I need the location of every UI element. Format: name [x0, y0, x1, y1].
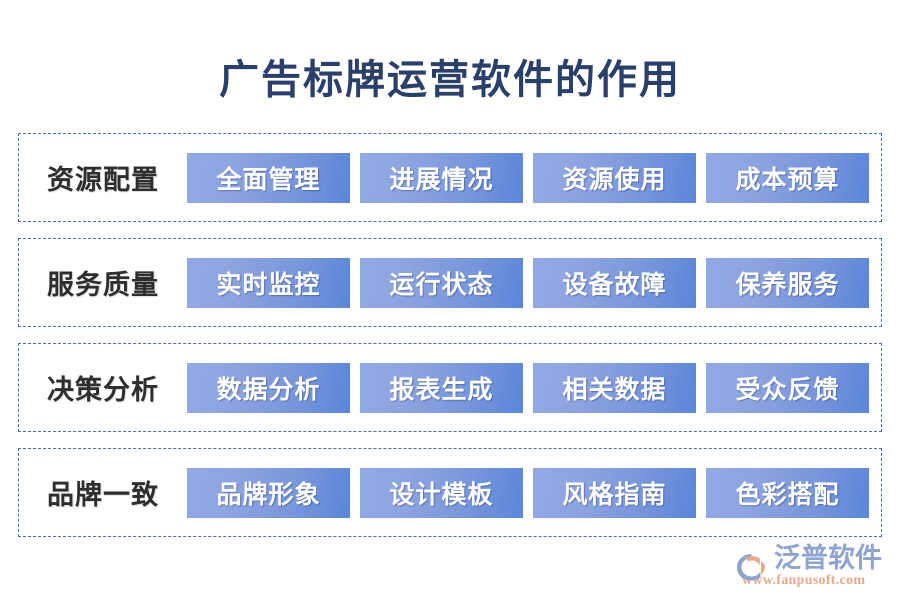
feature-chip[interactable]: 全面管理 — [187, 153, 350, 203]
category-rows: 资源配置 全面管理 进展情况 资源使用 成本预算 服务质量 实时监控 运行状态 … — [18, 133, 882, 553]
category-items: 数据分析 报表生成 相关数据 受众反馈 — [187, 363, 881, 413]
category-label: 决策分析 — [19, 368, 187, 407]
category-label: 服务质量 — [19, 263, 187, 302]
logo-company-name: 泛普软件 — [774, 545, 882, 572]
feature-chip[interactable]: 资源使用 — [533, 153, 696, 203]
feature-chip[interactable]: 品牌形象 — [187, 468, 350, 518]
feature-chip[interactable]: 实时监控 — [187, 258, 350, 308]
feature-chip[interactable]: 数据分析 — [187, 363, 350, 413]
category-items: 全面管理 进展情况 资源使用 成本预算 — [187, 153, 881, 203]
category-row: 决策分析 数据分析 报表生成 相关数据 受众反馈 — [18, 343, 882, 432]
brand-logo[interactable]: 泛普软件 www.fanpusoft.com — [735, 545, 882, 588]
logo-text-block: 泛普软件 www.fanpusoft.com — [774, 545, 882, 588]
infographic-page: 广告标牌运营软件的作用 资源配置 全面管理 进展情况 资源使用 成本预算 服务质… — [0, 0, 900, 600]
category-items: 品牌形象 设计模板 风格指南 色彩搭配 — [187, 468, 881, 518]
feature-chip[interactable]: 成本预算 — [706, 153, 869, 203]
feature-chip[interactable]: 设计模板 — [360, 468, 523, 518]
category-row: 资源配置 全面管理 进展情况 资源使用 成本预算 — [18, 133, 882, 222]
feature-chip[interactable]: 运行状态 — [360, 258, 523, 308]
feature-chip[interactable]: 报表生成 — [360, 363, 523, 413]
feature-chip[interactable]: 设备故障 — [533, 258, 696, 308]
feature-chip[interactable]: 色彩搭配 — [706, 468, 869, 518]
feature-chip[interactable]: 保养服务 — [706, 258, 869, 308]
category-label: 资源配置 — [19, 158, 187, 197]
page-title: 广告标牌运营软件的作用 — [219, 58, 681, 102]
category-items: 实时监控 运行状态 设备故障 保养服务 — [187, 258, 881, 308]
feature-chip[interactable]: 相关数据 — [533, 363, 696, 413]
feature-chip[interactable]: 受众反馈 — [706, 363, 869, 413]
feature-chip[interactable]: 风格指南 — [533, 468, 696, 518]
category-row: 品牌一致 品牌形象 设计模板 风格指南 色彩搭配 — [18, 448, 882, 537]
category-label: 品牌一致 — [19, 473, 187, 512]
feature-chip[interactable]: 进展情况 — [360, 153, 523, 203]
fanpu-swoosh-logo-icon — [735, 552, 769, 582]
category-row: 服务质量 实时监控 运行状态 设备故障 保养服务 — [18, 238, 882, 327]
page-title-container: 广告标牌运营软件的作用 — [0, 58, 900, 102]
